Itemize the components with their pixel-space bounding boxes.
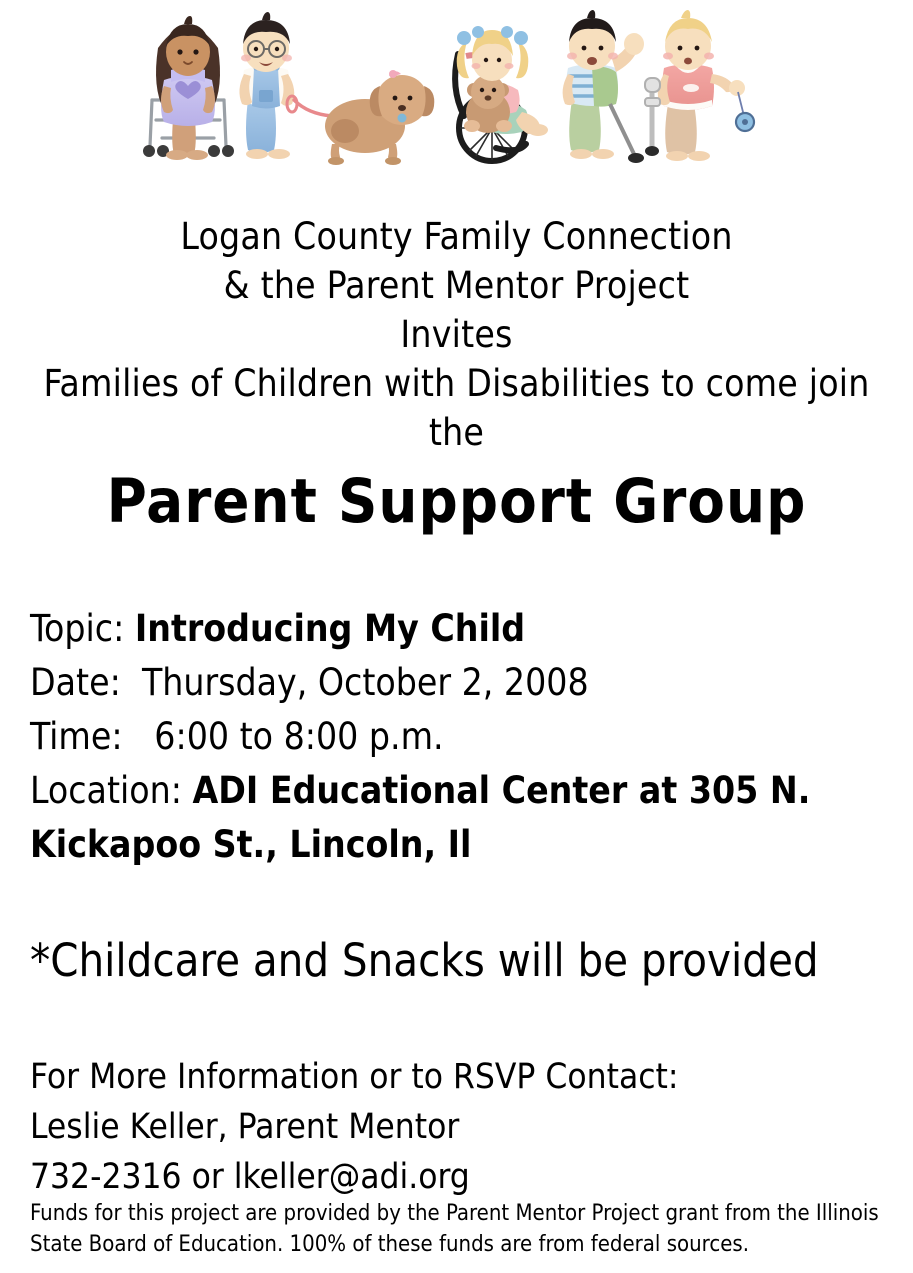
clipart-crutch [645,78,660,156]
intro-line-5: the [0,408,913,457]
contact-person: Leslie Keller, Parent Mentor [30,1102,890,1152]
detail-row-topic: Topic: Introducing My Child [30,602,890,656]
time-value: 6:00 to 8:00 p.m. [154,715,443,758]
funding-footnote: Funds for this project are provided by t… [30,1198,880,1260]
intro-line-2: & the Parent Mentor Project [0,261,913,310]
time-label: Time: [30,715,123,758]
footnote-line-1: Funds for this project are provided by t… [30,1198,880,1229]
topic-label: Topic: [30,607,124,650]
clipart-girl-with-walker [143,16,234,160]
clipart-boy-waving [563,10,644,163]
date-label: Date: [30,661,121,704]
page-title: Parent Support Group [0,466,913,538]
event-details-list: Topic: Introducing My Child Date: Thursd… [30,602,890,872]
clipart-boy-with-crutch [645,10,754,161]
date-spacer [121,661,142,704]
topic-spacer [124,607,135,650]
time-spacer [123,715,155,758]
topic-value: Introducing My Child [135,607,525,650]
flyer-page: Logan County Family Connection & the Par… [0,0,913,1273]
footnote-line-2: State Board of Education. 100% of these … [30,1229,880,1260]
contact-heading: For More Information or to RSVP Contact: [30,1052,890,1102]
date-value: Thursday, October 2, 2008 [142,661,589,704]
contact-phone-email: 732-2316 or lkeller@adi.org [30,1152,890,1202]
contact-block: For More Information or to RSVP Contact:… [30,1052,890,1202]
detail-row-time: Time: 6:00 to 8:00 p.m. [30,710,890,764]
location-spacer [182,769,193,812]
childcare-note: *Childcare and Snacks will be provided [30,934,900,988]
intro-line-3: Invites [0,310,913,359]
location-label: Location: [30,769,182,812]
intro-block: Logan County Family Connection & the Par… [0,212,913,457]
intro-line-1: Logan County Family Connection [0,212,913,261]
clipart-header-image [140,8,760,170]
intro-line-4: Families of Children with Disabilities t… [0,359,913,408]
clipart-boy-with-dog [239,12,332,159]
clipart-teddy-bear [464,75,512,133]
clipart-girl-in-wheelchair [455,26,548,161]
detail-row-date: Date: Thursday, October 2, 2008 [30,656,890,710]
detail-row-location: Location: ADI Educational Center at 305 … [30,764,890,872]
clipart-puppy [325,70,434,165]
